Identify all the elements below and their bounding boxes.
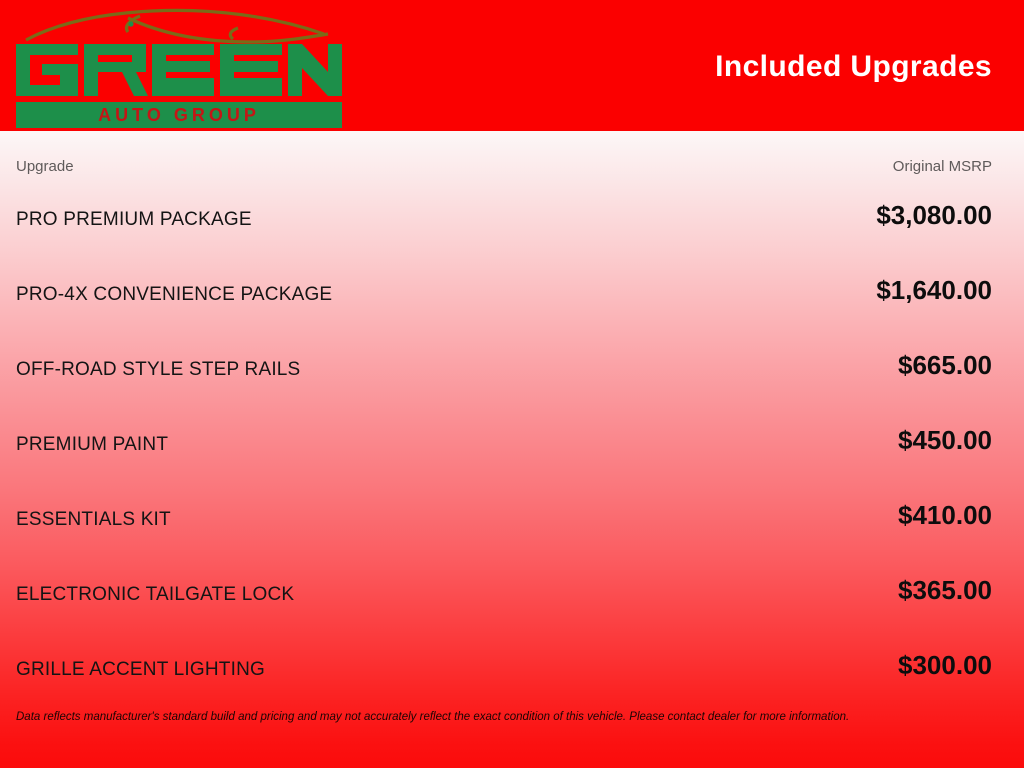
upgrades-table: Upgrade Original MSRP PRO PREMIUM PACKAG… [0, 131, 1024, 768]
disclaimer-text: Data reflects manufacturer's standard bu… [16, 711, 1008, 723]
table-body: PRO PREMIUM PACKAGE $3,080.00 PRO-4X CON… [0, 200, 1024, 725]
svg-text:AUTO GROUP: AUTO GROUP [98, 105, 260, 125]
column-header-upgrade: Upgrade [16, 158, 74, 175]
table-row: PRO PREMIUM PACKAGE $3,080.00 [0, 200, 1024, 275]
upgrade-price: $365.00 [898, 575, 992, 606]
included-upgrades-page: AUTO GROUP Included Upgrades Upgrade Ori… [0, 0, 1024, 768]
car-silhouette-icon [26, 10, 328, 42]
table-header-row: Upgrade Original MSRP [0, 158, 1024, 180]
page-title: Included Upgrades [715, 50, 992, 84]
page-header: AUTO GROUP Included Upgrades [0, 0, 1024, 131]
upgrade-name: PRO-4X CONVENIENCE PACKAGE [16, 284, 332, 306]
upgrade-price: $300.00 [898, 650, 992, 681]
upgrade-price: $410.00 [898, 500, 992, 531]
column-header-msrp: Original MSRP [893, 158, 992, 175]
upgrade-name: ESSENTIALS KIT [16, 509, 171, 531]
upgrade-name: ELECTRONIC TAILGATE LOCK [16, 584, 294, 606]
upgrade-name: GRILLE ACCENT LIGHTING [16, 659, 265, 681]
upgrade-name: PREMIUM PAINT [16, 434, 168, 456]
table-row: OFF-ROAD STYLE STEP RAILS $665.00 [0, 350, 1024, 425]
table-row: PRO-4X CONVENIENCE PACKAGE $1,640.00 [0, 275, 1024, 350]
green-auto-group-logo[interactable]: AUTO GROUP [12, 4, 342, 130]
table-row: ESSENTIALS KIT $410.00 [0, 500, 1024, 575]
logo-subbar: AUTO GROUP [16, 102, 342, 128]
upgrade-price: $450.00 [898, 425, 992, 456]
upgrade-price: $1,640.00 [876, 275, 992, 306]
upgrade-name: OFF-ROAD STYLE STEP RAILS [16, 359, 300, 381]
upgrade-name: PRO PREMIUM PACKAGE [16, 209, 252, 231]
upgrade-price: $3,080.00 [876, 200, 992, 231]
table-row: ELECTRONIC TAILGATE LOCK $365.00 [0, 575, 1024, 650]
upgrade-price: $665.00 [898, 350, 992, 381]
logo-wordmark [16, 44, 342, 96]
table-row: PREMIUM PAINT $450.00 [0, 425, 1024, 500]
